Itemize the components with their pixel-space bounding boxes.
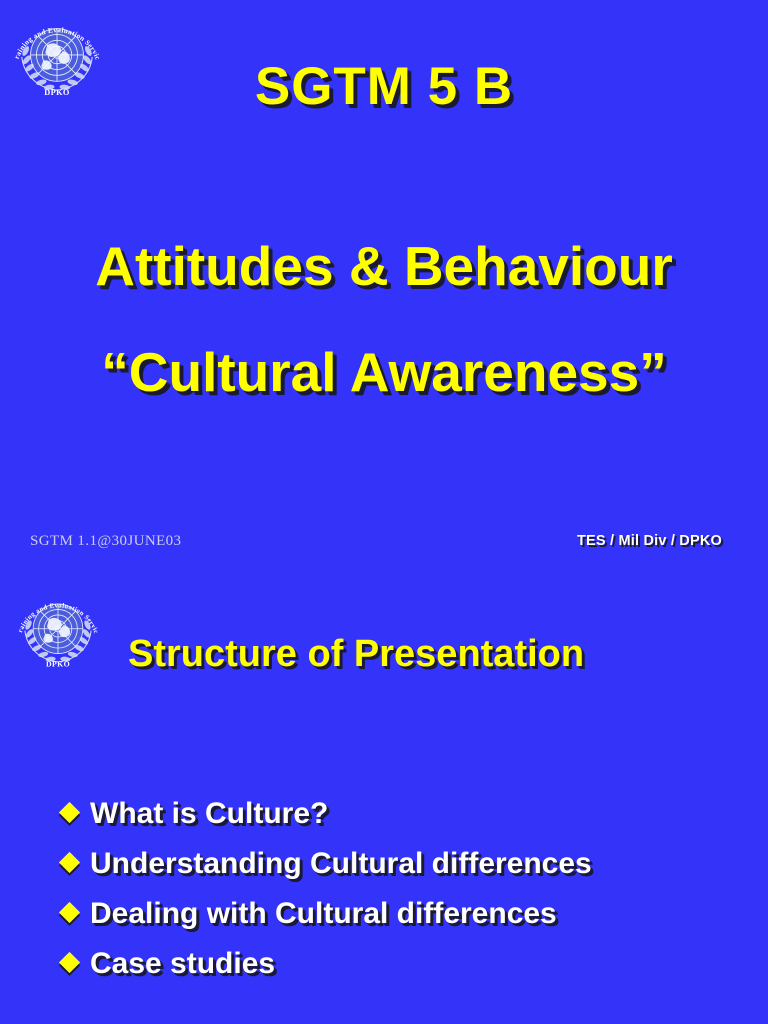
diamond-bullet-icon [59, 952, 80, 973]
slide-main-title-line-1: Attitudes & Behaviour [0, 234, 768, 298]
diamond-bullet-icon [59, 852, 80, 873]
emblem-bottom-text: DPKO [46, 659, 70, 668]
structure-slide-title: Structure of Presentation [128, 633, 584, 676]
slide-structure-page: Training and Evaluation Service DPKO Str… [0, 560, 768, 1024]
footer-version-stamp: SGTM 1.1@30JUNE03 [30, 533, 181, 550]
structure-bullet-list: What is Culture? Understanding Cultural … [62, 797, 742, 997]
slide-main-title-line-2: “Cultural Awareness” [0, 340, 768, 404]
diamond-bullet-icon [59, 902, 80, 923]
list-item: Understanding Cultural differences [62, 847, 742, 897]
un-dpko-emblem-icon: Training and Evaluation Service DPKO [12, 582, 104, 670]
footer-organisation-credit: TES / Mil Div / DPKO [577, 533, 722, 549]
list-item-label: Case studies [90, 947, 275, 981]
diamond-bullet-icon [59, 802, 80, 823]
list-item: Case studies [62, 947, 742, 997]
list-item: Dealing with Cultural differences [62, 897, 742, 947]
list-item-label: Understanding Cultural differences [90, 847, 592, 881]
list-item: What is Culture? [62, 797, 742, 847]
slide-title-page: Training and Evaluation Service DPKO SGT… [0, 0, 768, 560]
slide-heading-sgtm-code: SGTM 5 B [0, 56, 768, 117]
list-item-label: Dealing with Cultural differences [90, 897, 557, 931]
list-item-label: What is Culture? [90, 797, 328, 831]
